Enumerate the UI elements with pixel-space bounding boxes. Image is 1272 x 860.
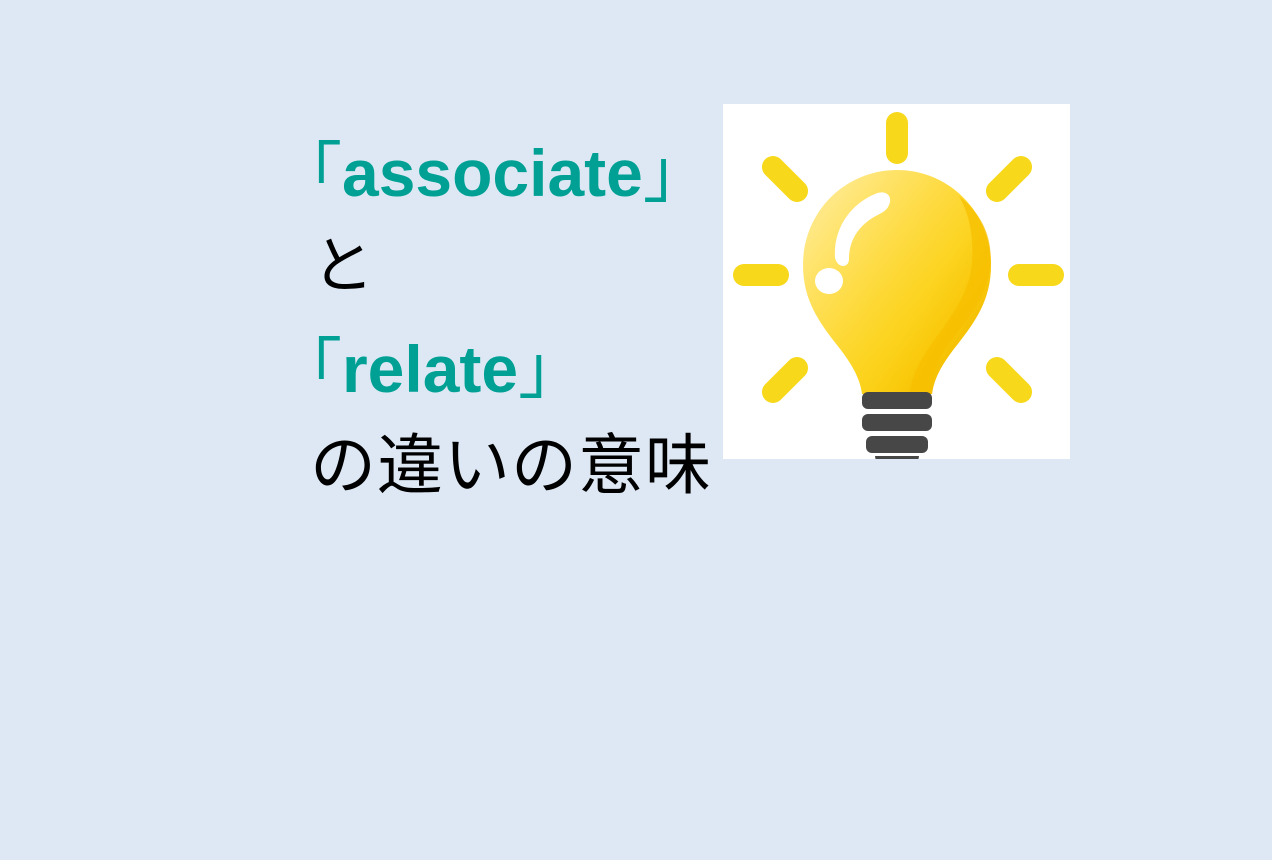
open-bracket-icon: 「 [276,136,342,210]
ray-right-icon [1008,264,1064,286]
bulb-base [862,392,932,459]
ray-left-icon [733,264,789,286]
ray-bottom-right-icon [981,352,1036,407]
base-band-3 [866,436,928,453]
close-bracket-icon: 」 [643,136,709,210]
ray-top-left-icon [757,151,812,206]
illustration-card [723,104,1070,459]
base-cap [875,456,919,459]
lightbulb-icon [723,104,1070,459]
close-bracket-icon: 」 [518,332,584,406]
base-band-2 [862,414,932,431]
bulb-highlight-dot [815,268,843,294]
open-bracket-icon: 「 [276,332,342,406]
term-relate: relate [342,332,518,406]
ray-top-right-icon [981,151,1036,206]
ray-bottom-left-icon [757,352,812,407]
term-associate: associate [342,136,643,210]
base-band-1 [862,392,932,409]
poster-canvas: 「associate」 と 「relate」 の違いの意味 [0,0,1272,860]
ray-top-icon [886,112,908,164]
